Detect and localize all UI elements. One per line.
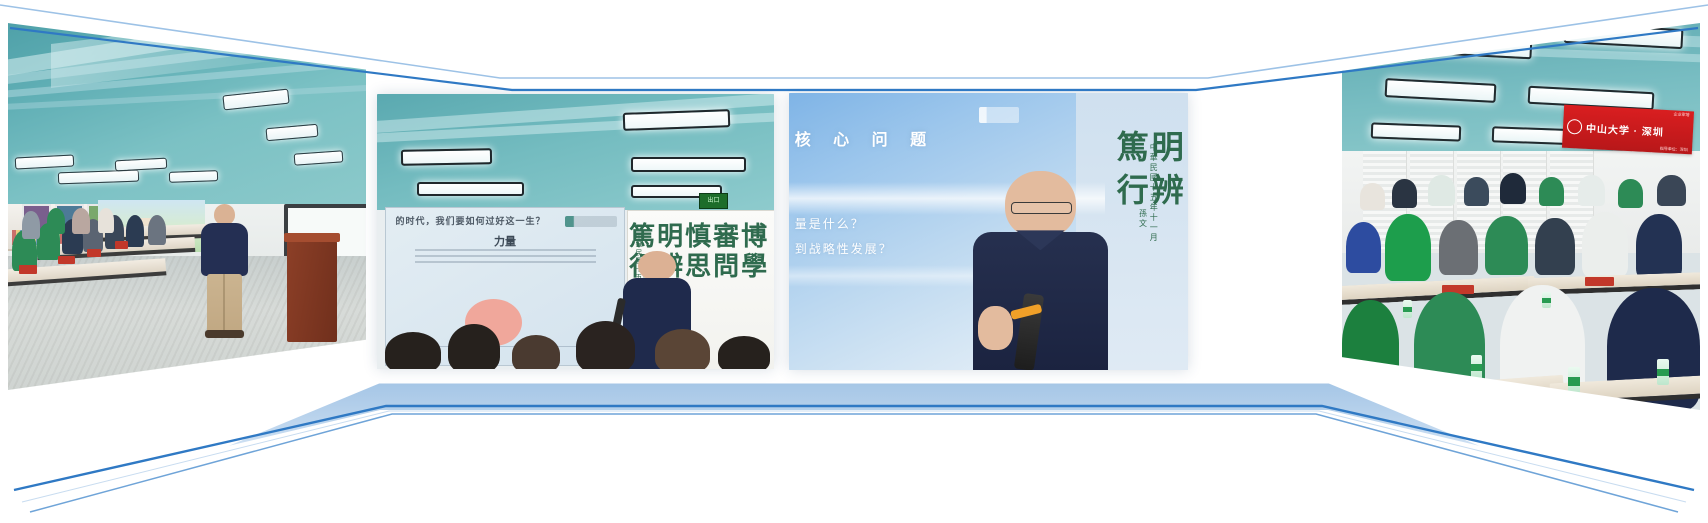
participant xyxy=(1578,175,1605,206)
audience-head xyxy=(385,332,441,369)
participant xyxy=(1428,175,1455,206)
audience-head xyxy=(448,324,500,369)
participant xyxy=(1439,220,1478,275)
calligraphy-signature: 孫文 xyxy=(1138,209,1149,229)
name-tag xyxy=(1585,277,1614,286)
water-bottle xyxy=(1542,292,1551,308)
photo-2-presentation-slide: 出口 的时代，我们要如何过好这一生？ 力量 机会 篤明慎審博 行辨思問學 中華民… xyxy=(377,94,774,369)
banner-top-text: 企业家培 xyxy=(1674,112,1690,119)
glasses-icon xyxy=(1011,202,1073,214)
ceiling-lamp xyxy=(401,148,493,166)
photo-1-classroom-wide xyxy=(8,18,366,390)
participant xyxy=(1539,177,1564,206)
slide-title: 核 心 问 题 xyxy=(795,126,935,150)
participant xyxy=(1346,222,1382,273)
slide-heading: 力量 xyxy=(386,233,624,249)
ceiling-lamp xyxy=(169,170,218,182)
audience-head xyxy=(512,335,560,369)
photo-gallery-banner: 出口 的时代，我们要如何过好这一生？ 力量 机会 篤明慎審博 行辨思問學 中華民… xyxy=(0,0,1708,523)
speaker-figure xyxy=(973,171,1109,370)
ceiling-lamp xyxy=(1406,30,1533,58)
banner-text: 中山大学 · 深圳 xyxy=(1586,120,1665,139)
banner-bottom-text: 指导单位：深圳 xyxy=(1660,146,1688,153)
participant xyxy=(1360,183,1385,210)
instructor-torso xyxy=(201,223,248,277)
participant xyxy=(1618,179,1643,208)
participant xyxy=(1657,175,1686,206)
participant xyxy=(126,215,144,247)
instructor-shoes xyxy=(205,330,244,338)
speaker-head xyxy=(638,251,676,282)
participant xyxy=(1535,218,1574,275)
water-bottle xyxy=(1403,300,1412,318)
audience-head xyxy=(655,329,711,369)
university-seal-icon xyxy=(1567,119,1583,135)
water-bottle xyxy=(1471,355,1482,379)
photo-panel-center-left[interactable]: 出口 的时代，我们要如何过好这一生？ 力量 机会 篤明慎審博 行辨思問學 中華民… xyxy=(377,94,774,369)
photo-panel-right[interactable]: 中山大学 · 深圳 企业家培 指导单位：深圳 xyxy=(1342,18,1700,410)
university-banner: 中山大学 · 深圳 企业家培 指导单位：深圳 xyxy=(1562,105,1694,155)
slide-title: 的时代，我们要如何过好这一生？ xyxy=(395,214,576,227)
ceiling-lamp xyxy=(58,169,139,183)
participant xyxy=(1636,214,1683,279)
name-tag xyxy=(58,256,74,264)
slide-logo xyxy=(979,107,1019,124)
exit-sign-label: 出口 xyxy=(707,198,719,204)
name-tag xyxy=(1500,390,1554,406)
participant xyxy=(1414,292,1486,402)
slide-question-2: 到战略性发展？ xyxy=(795,240,893,257)
participant xyxy=(72,208,90,234)
name-tag xyxy=(115,241,128,249)
audience-head xyxy=(576,321,636,369)
participant xyxy=(148,215,166,245)
name-tag xyxy=(19,265,37,273)
participant xyxy=(47,208,65,234)
participant xyxy=(1500,173,1527,204)
photo-3-speaker-closeup: 篤明 行辨 中華民國十五年十一月 孫文 核 心 问 题 量是什么？ 到战略性发展… xyxy=(789,93,1188,370)
speaker-hand xyxy=(978,306,1013,350)
instructor-legs xyxy=(207,274,241,333)
name-tag xyxy=(1363,386,1413,402)
calligraphy-line-1: 篤明慎審博 xyxy=(629,223,769,253)
water-bottle xyxy=(1657,359,1669,384)
name-tag xyxy=(87,249,101,257)
participant xyxy=(1342,300,1399,390)
participant xyxy=(1392,179,1417,208)
participant xyxy=(1385,214,1432,281)
ceiling-lamp xyxy=(631,157,746,172)
water-bottle xyxy=(1349,363,1361,388)
calligraphy-inscription: 中華民國十五年十一月 xyxy=(1148,143,1159,243)
audience-head xyxy=(718,336,770,369)
photo-4-audience: 中山大学 · 深圳 企业家培 指导单位：深圳 xyxy=(1342,18,1700,410)
water-bottle xyxy=(1568,367,1581,394)
participant xyxy=(1582,212,1629,277)
ceiling-lamp xyxy=(1370,122,1460,141)
photo-panel-center-right[interactable]: 篤明 行辨 中華民國十五年十一月 孫文 核 心 问 题 量是什么？ 到战略性发展… xyxy=(789,93,1188,370)
participant xyxy=(98,208,114,233)
participant xyxy=(1464,177,1489,206)
audience-foreground xyxy=(377,314,774,369)
podium xyxy=(287,241,337,341)
ceiling xyxy=(8,18,366,219)
slide-logo xyxy=(565,216,617,227)
ceiling-lamp xyxy=(623,109,731,130)
participant xyxy=(1485,216,1528,275)
slide-body-text xyxy=(415,249,596,265)
photo-panel-left[interactable] xyxy=(8,18,366,390)
ceiling-lamp xyxy=(417,182,524,196)
slide-question-1: 量是什么？ xyxy=(795,215,865,232)
audience-crowd xyxy=(1342,214,1700,410)
floor-gradient xyxy=(0,373,1708,523)
participant xyxy=(22,211,40,239)
exit-sign: 出口 xyxy=(699,193,729,209)
instructor xyxy=(201,204,248,338)
